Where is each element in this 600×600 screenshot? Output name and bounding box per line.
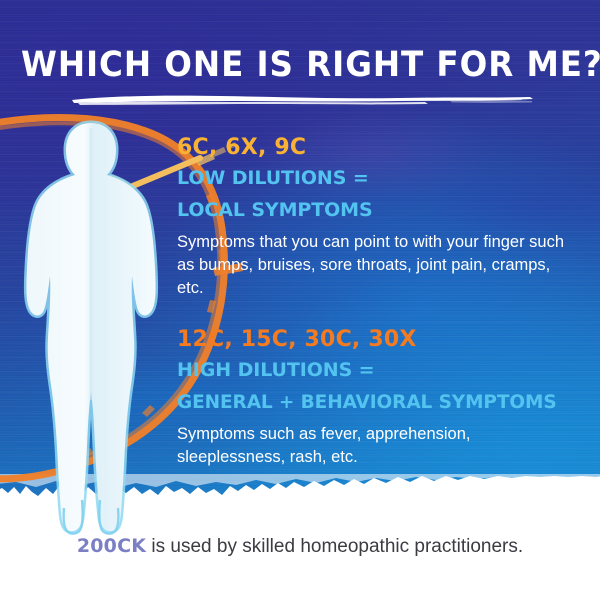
subhead-low-line1: LOW DILUTIONS =	[177, 167, 581, 190]
brush-stroke-underline-icon	[70, 92, 535, 108]
infographic-poster: WHICH ONE IS RIGHT FOR ME?	[0, 0, 600, 600]
footer-note-text: is used by skilled homeopathic practitio…	[146, 536, 523, 557]
paint-bottom-torn-edge	[0, 474, 600, 512]
footer-note: 200CK is used by skilled homeopathic pra…	[0, 533, 600, 560]
dose-label-high: 12C, 15C, 30C, 30X	[177, 326, 581, 354]
page-title: WHICH ONE IS RIGHT FOR ME?	[21, 45, 579, 85]
body-text-low: Symptoms that you can point to with your…	[177, 231, 581, 300]
subhead-high-line2: GENERAL + BEHAVIORAL SYMPTOMS	[177, 391, 581, 414]
body-text-high: Symptoms such as fever, apprehension, sl…	[177, 423, 581, 469]
content-column: 6C, 6X, 9C LOW DILUTIONS = LOCAL SYMPTOM…	[177, 134, 581, 469]
footer-strength-label: 200CK	[77, 535, 146, 557]
dilution-section-high: 12C, 15C, 30C, 30X HIGH DILUTIONS = GENE…	[177, 326, 581, 469]
dose-label-low: 6C, 6X, 9C	[177, 134, 581, 162]
subhead-high-line1: HIGH DILUTIONS =	[177, 359, 581, 382]
dilution-section-low: 6C, 6X, 9C LOW DILUTIONS = LOCAL SYMPTOM…	[177, 134, 581, 300]
subhead-low-line2: LOCAL SYMPTOMS	[177, 199, 581, 222]
